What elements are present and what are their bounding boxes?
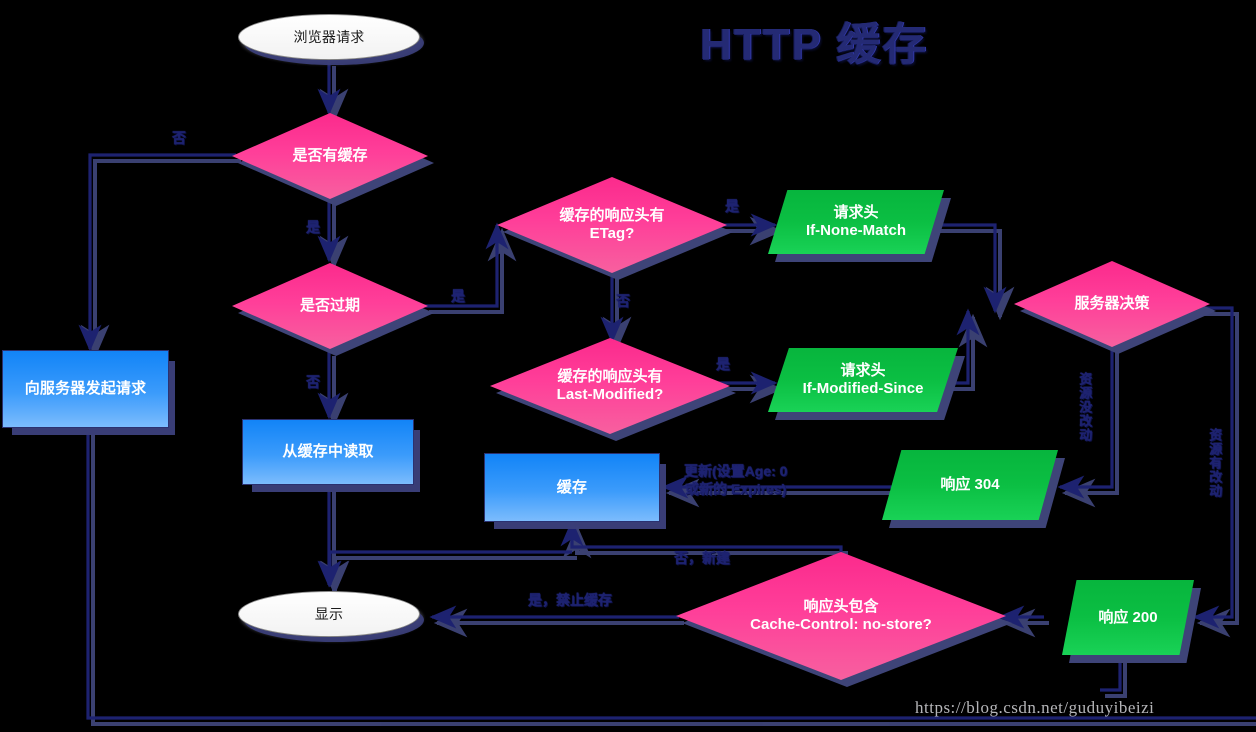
node-has-lastmodified-label: 缓存的响应头有 Last-Modified? xyxy=(490,338,730,434)
node-server-decision[interactable]: 服务器决策 xyxy=(1014,261,1210,347)
edge-label-expired-yes: 是 xyxy=(451,288,465,306)
edge-label-update-cache: 更新(设置Age: 0 或新的 Expires) xyxy=(684,463,787,498)
edge-hascache-to-request xyxy=(90,155,236,349)
node-response-304[interactable]: 响应 304 xyxy=(882,450,1058,520)
node-if-modified-since[interactable]: 请求头 If-Modified-Since xyxy=(768,348,958,412)
node-ims-line2: If-Modified-Since xyxy=(803,380,924,398)
node-no-store-line1: 响应头包含 xyxy=(750,598,932,616)
edge-label-etag-no: 否 xyxy=(616,293,630,311)
node-start[interactable]: 浏览器请求 xyxy=(238,14,420,60)
node-cache-label: 缓存 xyxy=(557,479,587,497)
node-has-etag-label: 缓存的响应头有 ETag? xyxy=(497,177,727,273)
edge-label-nostore-yes: 是，禁止缓存 xyxy=(528,592,612,610)
node-no-store-label: 响应头包含 Cache-Control: no-store? xyxy=(676,552,1006,680)
edge-cache-to-display xyxy=(330,552,572,585)
node-has-lastmodified-line1: 缓存的响应头有 xyxy=(557,368,664,386)
node-no-store-line2: Cache-Control: no-store? xyxy=(750,616,932,634)
edge-label-update-line1: 更新(设置Age: 0 xyxy=(684,463,787,481)
node-has-etag-line1: 缓存的响应头有 xyxy=(559,207,664,225)
edge-label-server-no-change: 资源没改动 xyxy=(1076,372,1092,442)
node-has-cache[interactable]: 是否有缓存 xyxy=(232,113,428,199)
node-if-modified-since-label: 请求头 If-Modified-Since xyxy=(768,348,958,412)
page-title: HTTP 缓存 xyxy=(700,8,928,72)
edge-label-server-changed: 资源有改动 xyxy=(1206,428,1222,498)
node-display[interactable]: 显示 xyxy=(238,591,420,637)
node-inm-line2: If-None-Match xyxy=(806,222,906,240)
node-if-none-match[interactable]: 请求头 If-None-Match xyxy=(768,190,944,254)
node-expired-label: 是否过期 xyxy=(232,263,428,349)
node-cache[interactable]: 缓存 xyxy=(484,453,660,522)
node-request-label: 向服务器发起请求 xyxy=(25,380,147,398)
edge-label-expired-no: 否 xyxy=(306,374,320,392)
node-has-lastmodified[interactable]: 缓存的响应头有 Last-Modified? xyxy=(490,338,730,434)
node-read-cache-label: 从缓存中读取 xyxy=(282,443,373,461)
node-has-etag-line2: ETag? xyxy=(559,225,664,243)
edge-label-hascache-no: 否 xyxy=(172,130,186,148)
node-read-cache[interactable]: 从缓存中读取 xyxy=(242,419,414,485)
node-has-cache-label: 是否有缓存 xyxy=(232,113,428,199)
edge-nostore-to-cache xyxy=(572,522,841,552)
node-inm-line1: 请求头 xyxy=(806,204,906,222)
node-start-label: 浏览器请求 xyxy=(294,29,365,46)
node-has-etag[interactable]: 缓存的响应头有 ETag? xyxy=(497,177,727,273)
node-server-decision-label: 服务器决策 xyxy=(1014,261,1210,347)
node-if-none-match-label: 请求头 If-None-Match xyxy=(768,190,944,254)
node-has-lastmodified-line2: Last-Modified? xyxy=(557,386,664,404)
edge-label-hascache-yes: 是 xyxy=(306,219,320,237)
node-response-200-label: 响应 200 xyxy=(1062,580,1194,655)
node-ims-line1: 请求头 xyxy=(803,362,924,380)
edge-label-etag-yes: 是 xyxy=(725,198,739,216)
node-response-304-label: 响应 304 xyxy=(882,450,1058,520)
edge-label-update-line2: 或新的 Expires) xyxy=(684,481,787,499)
node-request[interactable]: 向服务器发起请求 xyxy=(2,350,169,428)
flowchart-canvas: HTTP 缓存 浏览器请求 是否有缓存 是否过期 向服务器发起请求 从缓存中读取… xyxy=(0,0,1256,732)
node-expired[interactable]: 是否过期 xyxy=(232,263,428,349)
node-response-200[interactable]: 响应 200 xyxy=(1062,580,1194,655)
watermark: https://blog.csdn.net/guduyibeizi xyxy=(915,698,1154,718)
node-no-store[interactable]: 响应头包含 Cache-Control: no-store? xyxy=(676,552,1006,680)
node-display-label: 显示 xyxy=(315,606,343,623)
